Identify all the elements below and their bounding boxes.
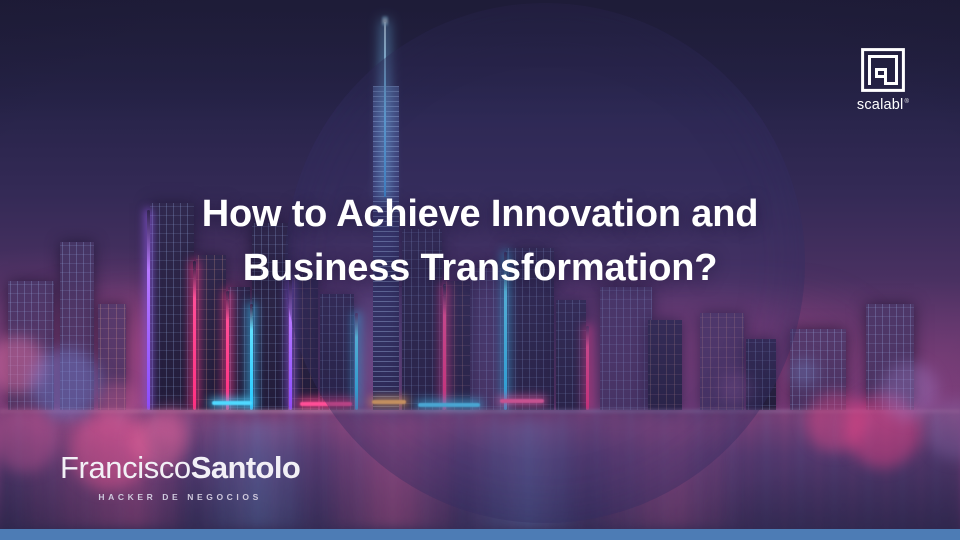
scalabl-wordmark-text: scalabl <box>857 97 904 113</box>
presenter-signature: FranciscoSantolo HACKER DE NEGOCIOS <box>60 452 300 502</box>
page-title: How to Achieve Innovation and Business T… <box>0 188 960 296</box>
headline-line-2: Business Transformation? <box>90 242 870 296</box>
presentation-slide: How to Achieve Innovation and Business T… <box>0 0 960 540</box>
presenter-name: FranciscoSantolo <box>60 452 300 483</box>
presenter-first-name: Francisco <box>60 452 191 483</box>
scalabl-square-spiral-mark-icon <box>861 48 905 92</box>
presenter-tagline: HACKER DE NEGOCIOS <box>60 492 300 502</box>
headline-line-1: How to Achieve Innovation and <box>202 193 759 235</box>
trademark-symbol: ® <box>904 99 909 105</box>
presenter-last-name: Santolo <box>191 452 300 483</box>
bottom-accent-bar <box>0 529 960 540</box>
scalabl-logo[interactable]: scalabl® <box>846 48 920 113</box>
scalabl-wordmark: scalabl® <box>857 97 909 113</box>
